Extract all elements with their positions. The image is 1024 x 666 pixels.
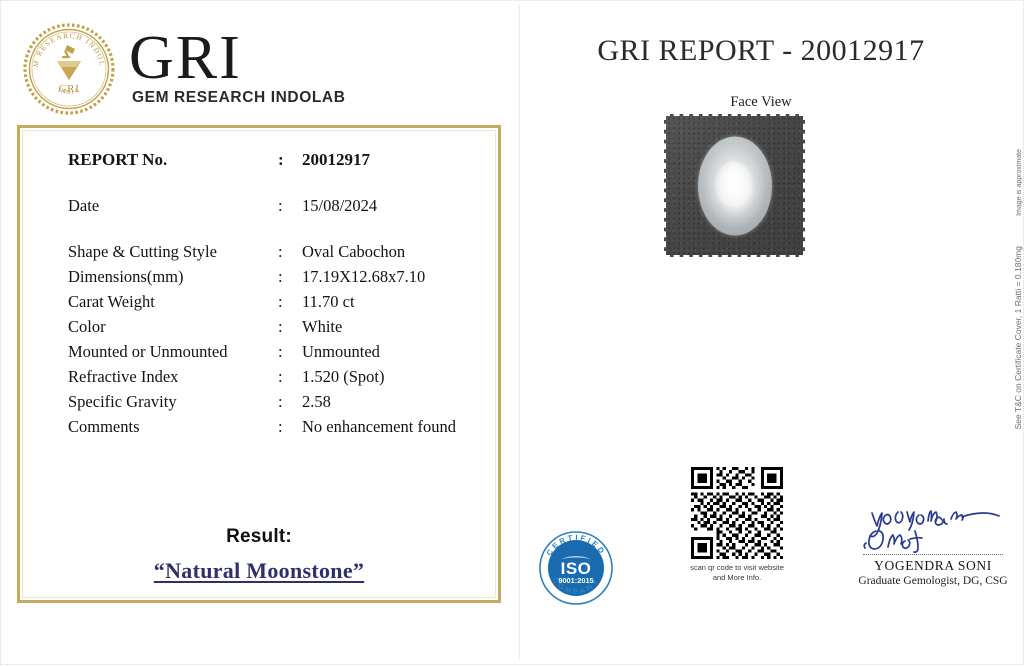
row-label: Specific Gravity [68,392,278,412]
report-details-rows: REPORT No. : 20012917 Date : 15/08/2024 … [68,150,480,442]
page-title: GRI REPORT - 20012917 [519,34,1003,68]
signature-block: YOGENDRA SONI Graduate Gemologist, DG, C… [849,501,1017,587]
row-separator: : [278,292,302,312]
table-row: Specific Gravity : 2.58 [68,392,480,412]
qr-caption: scan qr code to visit website and More I… [687,563,787,583]
photo-caption: Face View [519,94,1003,111]
table-row: Date : 15/08/2024 [68,196,480,216]
row-value: 1.520 (Spot) [302,367,480,387]
result-value: “Natural Moonstone” [20,558,498,584]
table-row: Mounted or Unmounted : Unmounted [68,342,480,362]
brand-header: GEM RESEARCH INDOLAB INDIA [23,19,483,119]
table-row: REPORT No. : 20012917 [68,150,480,170]
certificate-page: GEM RESEARCH INDOLAB INDIA [0,0,1024,665]
table-row: Shape & Cutting Style : Oval Cabochon [68,242,480,262]
row-value: 20012917 [302,150,480,170]
qr-caption-line-1: scan qr code to visit website [687,563,787,573]
row-value: White [302,317,480,337]
row-label: Refractive Index [68,367,278,387]
signatory-name: YOGENDRA SONI [849,558,1017,574]
left-panel: GEM RESEARCH INDOLAB INDIA [1,1,519,666]
row-separator: : [278,417,302,437]
row-separator: : [278,342,302,362]
signature-line [863,554,1003,555]
result-section: Result: “Natural Moonstone” [20,526,498,584]
seal-icon: GEM RESEARCH INDOLAB INDIA [23,23,115,115]
row-value: Unmounted [302,342,480,362]
result-label: Result: [20,526,498,548]
row-label: Shape & Cutting Style [68,242,278,262]
terms-conditions-note: See T&C on Certificate Cover, 1 Ratti = … [1013,246,1023,429]
row-separator: : [278,196,302,216]
gri-seal-logo: GEM RESEARCH INDOLAB INDIA [23,23,115,115]
row-value: Oval Cabochon [302,242,480,262]
row-separator: : [278,267,302,287]
svg-text:GRI: GRI [59,83,80,95]
brand-subtitle: GEM RESEARCH INDOLAB [132,89,346,107]
row-value: 11.70 ct [302,292,480,312]
row-label: Comments [68,417,278,437]
table-row: Refractive Index : 1.520 (Spot) [68,367,480,387]
signatory-role: Graduate Gemologist, DG, CSG [849,575,1017,587]
row-label: Dimensions(mm) [68,267,278,287]
image-approximate-note: Image is approximate [1016,149,1023,216]
right-panel: GRI REPORT - 20012917 Face View CERTIFIE… [519,1,1024,666]
report-details-box: REPORT No. : 20012917 Date : 15/08/2024 … [17,125,501,603]
row-value: 15/08/2024 [302,196,480,216]
moonstone-cabochon-image [698,136,772,235]
row-separator: : [278,150,302,170]
row-label: Carat Weight [68,292,278,312]
row-label: Mounted or Unmounted [68,342,278,362]
brand-name: GRI [129,29,346,88]
iso-badge-icon: CERTIFIED COMPANY ISO 9001:2015 [537,529,615,607]
diamond-icon [57,61,81,80]
row-value: No enhancement found [302,417,480,437]
row-separator: : [278,392,302,412]
gemstone-photo [664,114,805,257]
qr-section: scan qr code to visit website and More I… [687,467,787,583]
handwritten-signature-icon [858,501,1008,553]
table-row: Color : White [68,317,480,337]
table-row: Comments : No enhancement found [68,417,480,437]
row-label: Color [68,317,278,337]
row-value: 2.58 [302,392,480,412]
row-separator: : [278,242,302,262]
qr-caption-line-2: and More Info. [687,573,787,583]
row-separator: : [278,317,302,337]
iso-certified-badge: CERTIFIED COMPANY ISO 9001:2015 [537,529,615,607]
svg-text:9001:2015: 9001:2015 [558,576,593,585]
row-label: REPORT No. [68,150,278,170]
brand-wordmark: GRI GEM RESEARCH INDOLAB [129,29,346,107]
qr-code[interactable] [691,467,783,559]
row-label: Date [68,196,278,216]
table-row: Carat Weight : 11.70 ct [68,292,480,312]
row-value: 17.19X12.68x7.10 [302,267,480,287]
table-row: Dimensions(mm) : 17.19X12.68x7.10 [68,267,480,287]
row-separator: : [278,367,302,387]
microscope-icon [62,45,75,58]
